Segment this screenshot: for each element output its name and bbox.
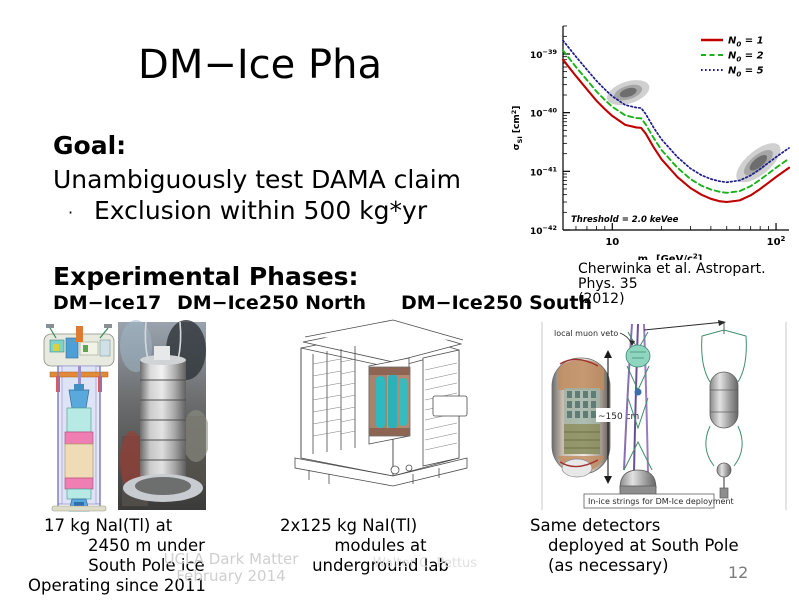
figure-dm-ice250-south-graphic: ~150 cm: [524, 320, 790, 512]
phase-label-dm-ice250-north: DM−Ice250 North: [177, 292, 366, 314]
exclusion-limit-chart: 10−3910−4010−4110−4210102σSI [cm2]mχ [Ge…: [505, 12, 797, 260]
caption-center-line-1: 2x125 kg NaI(Tl): [280, 516, 493, 536]
footer-presenter: Walter C. Pettus: [300, 556, 550, 571]
page-title: DM−Ice Pha: [0, 42, 520, 88]
figure-dm-ice17-graphic: [36, 316, 208, 514]
figure-dm-ice250-north-graphic: [243, 318, 491, 510]
threshold-annotation: Threshold = 2.0 keVee: [571, 215, 679, 225]
phase-label-dm-ice250-south: DM−Ice250 South: [401, 292, 592, 314]
caption-left-line-1: 17 kg NaI(Tl) at: [44, 516, 259, 536]
crystal-inset-photo: [369, 367, 410, 436]
caption-right-line-3: (as necessary): [548, 556, 785, 576]
page-number: 12: [728, 563, 748, 582]
in-ice-strings-label: In-ice strings for DM-Ice deployment: [588, 497, 734, 506]
x-axis-label: mχ [GeV/c2]: [638, 253, 703, 261]
citation-line-2: (2012): [578, 292, 796, 307]
figure-dm-ice250-north: [243, 318, 491, 510]
goal-bullet-item: ·Exclusion within 500 kg*yr: [68, 196, 427, 225]
bullet-icon: ·: [68, 203, 94, 222]
phase-label-dm-ice17: DM−Ice17: [53, 292, 161, 314]
caption-right-line-1: Same detectors: [530, 516, 785, 536]
goal-bullet-label: Exclusion within 500 kg*yr: [94, 196, 427, 225]
presentation-slide: DM−Ice Pha Goal: Unambiguously test DAMA…: [0, 0, 799, 600]
cad-cross-section: [42, 324, 118, 511]
figure-dm-ice17: [36, 316, 208, 514]
caption-right-line-2: deployed at South Pole: [548, 536, 785, 556]
citation-line-1: Cherwinka et al. Astropart. Phys. 35: [578, 262, 796, 292]
detector-photo: [118, 320, 208, 510]
x-tick-label: 10: [605, 237, 619, 248]
goal-heading: Goal:: [53, 131, 126, 160]
chart-svg: 10−3910−4010−4110−4210102σSI [cm2]mχ [Ge…: [505, 12, 797, 260]
in-ice-strings-caption-box: In-ice strings for DM-Ice deployment: [584, 494, 734, 508]
phases-heading: Experimental Phases:: [53, 262, 359, 291]
figure-dm-ice250-south: ~150 cm: [524, 320, 790, 512]
goal-line-1: Unambiguously test DAMA claim: [53, 165, 461, 194]
citation: Cherwinka et al. Astropart. Phys. 35 (20…: [578, 262, 796, 307]
muon-veto-label: local muon veto: [554, 329, 618, 338]
